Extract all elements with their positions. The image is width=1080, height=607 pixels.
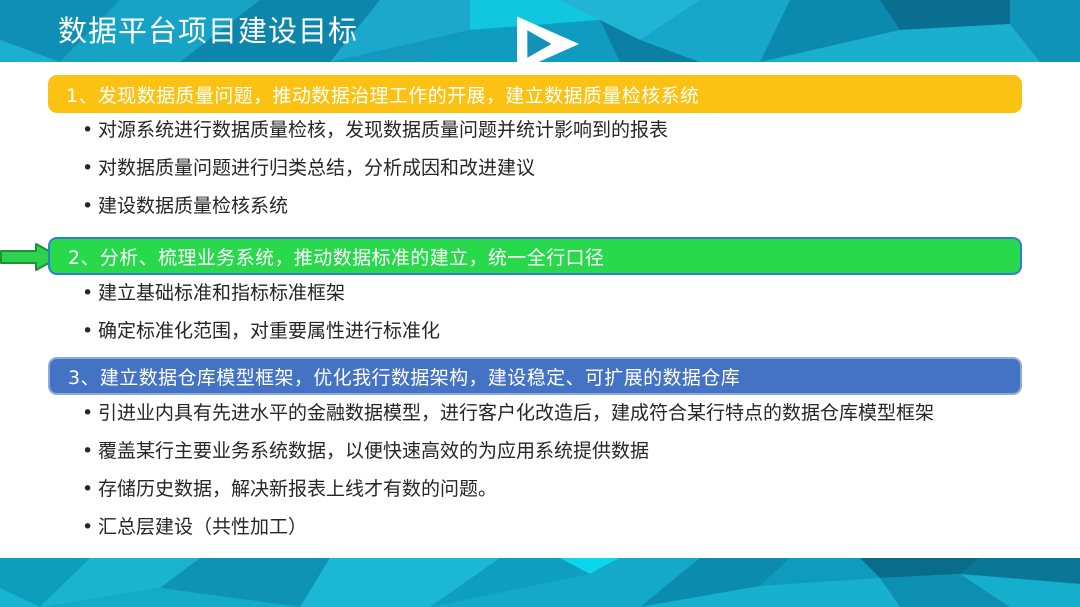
slide-content: 1、发现数据质量问题，推动数据治理工作的开展，建立数据质量检核系统 • 对源系统…	[0, 62, 1080, 558]
bullet-marker-icon: •	[82, 477, 98, 501]
slide-header-band: 数据平台项目建设目标	[0, 0, 1080, 62]
section-2-bullet-list: • 建立基础标准和指标标准框架 • 确定标准化范围，对重要属性进行标准化	[82, 281, 1042, 357]
list-item-label: 确定标准化范围，对重要属性进行标准化	[98, 319, 1042, 343]
list-item: • 汇总层建设（共性加工）	[82, 515, 1042, 539]
slide-footer-band	[0, 558, 1080, 607]
list-item: • 建立基础标准和指标标准框架	[82, 281, 1042, 305]
section-1-title-bar[interactable]: 1、发现数据质量问题，推动数据治理工作的开展，建立数据质量检核系统	[48, 75, 1022, 113]
bullet-marker-icon: •	[82, 281, 98, 305]
list-item-label: 建设数据质量检核系统	[98, 194, 1042, 218]
list-item-label: 建立基础标准和指标标准框架	[98, 281, 1042, 305]
list-item: • 建设数据质量检核系统	[82, 194, 1042, 218]
bullet-marker-icon: •	[82, 401, 98, 425]
bullet-marker-icon: •	[82, 439, 98, 463]
list-item-label: 存储历史数据，解决新报表上线才有数的问题。	[98, 477, 1042, 501]
bullet-marker-icon: •	[82, 515, 98, 539]
bullet-marker-icon: •	[82, 118, 98, 142]
list-item: • 确定标准化范围，对重要属性进行标准化	[82, 319, 1042, 343]
list-item: • 引进业内具有先进水平的金融数据模型，进行客户化改造后，建成符合某行特点的数据…	[82, 401, 1042, 425]
list-item-label: 汇总层建设（共性加工）	[98, 515, 1042, 539]
list-item: • 对数据质量问题进行归类总结，分析成因和改进建议	[82, 156, 1042, 180]
section-3-bullet-list: • 引进业内具有先进水平的金融数据模型，进行客户化改造后，建成符合某行特点的数据…	[82, 401, 1042, 553]
play-triangle-icon	[8, 13, 48, 49]
footer-polygon-pattern	[0, 558, 1080, 607]
page-title: 数据平台项目建设目标	[58, 11, 358, 51]
list-item-label: 对数据质量问题进行归类总结，分析成因和改进建议	[98, 156, 1042, 180]
section-1-bullet-list: • 对源系统进行数据质量检核，发现数据质量问题并统计影响到的报表 • 对数据质量…	[82, 118, 1042, 232]
bullet-marker-icon: •	[82, 156, 98, 180]
slide: 数据平台项目建设目标 1、发现数据质量问题，推动数据治理工作的开展，建立数据质量…	[0, 0, 1080, 607]
list-item-label: 覆盖某行主要业务系统数据，以便快速高效的为应用系统提供数据	[98, 439, 1042, 463]
bullet-marker-icon: •	[82, 319, 98, 343]
list-item-label: 对源系统进行数据质量检核，发现数据质量问题并统计影响到的报表	[98, 118, 1042, 142]
bullet-marker-icon: •	[82, 194, 98, 218]
section-3-title-bar[interactable]: 3、建立数据仓库模型框架，优化我行数据架构，建设稳定、可扩展的数据仓库	[48, 357, 1022, 395]
list-item: • 对源系统进行数据质量检核，发现数据质量问题并统计影响到的报表	[82, 118, 1042, 142]
list-item: • 覆盖某行主要业务系统数据，以便快速高效的为应用系统提供数据	[82, 439, 1042, 463]
list-item-label: 引进业内具有先进水平的金融数据模型，进行客户化改造后，建成符合某行特点的数据仓库…	[98, 401, 1042, 425]
section-2-title-bar[interactable]: 2、分析、梳理业务系统，推动数据标准的建立，统一全行口径	[48, 237, 1022, 275]
list-item: • 存储历史数据，解决新报表上线才有数的问题。	[82, 477, 1042, 501]
